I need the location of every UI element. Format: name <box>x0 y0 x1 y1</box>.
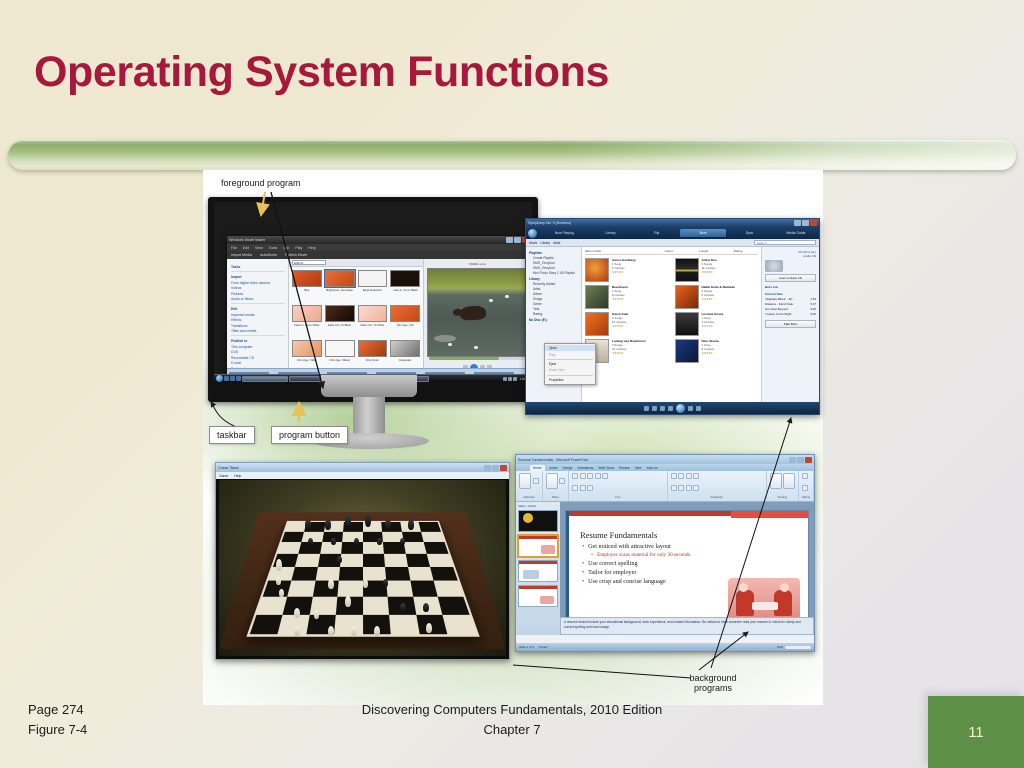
track-title: Distance - Karsh Kale <box>765 302 793 306</box>
numbering-icon[interactable] <box>678 473 684 479</box>
album-item[interactable]: Karsh Kale2 Songs10 minutes★★★★★ <box>585 312 669 336</box>
tab-rip[interactable]: Rip <box>634 231 680 235</box>
task-imported-media[interactable]: Imported media <box>231 313 285 317</box>
minimize-icon[interactable] <box>484 465 491 471</box>
task-group-edit: Edit <box>231 307 285 311</box>
movie-maker-menubar[interactable]: File Edit View Tools Clip Play Help <box>227 244 531 251</box>
underline-icon[interactable] <box>602 473 608 479</box>
status-bar[interactable]: Slide 2 of 4 "Urban" 59% <box>516 643 814 651</box>
effect-cell[interactable]: Blur <box>292 270 322 303</box>
tab-add-ins[interactable]: Add-Ins <box>646 466 657 470</box>
collection-combo[interactable]: Effects <box>292 260 326 265</box>
task-import-camera[interactable]: From digital video camera <box>231 281 285 285</box>
effect-thumbnail <box>292 305 322 322</box>
column-album-artist[interactable]: Album Artist <box>585 249 665 253</box>
footer-book: Discovering Computers Fundamentals, 2010… <box>0 700 1024 720</box>
maximize-icon[interactable] <box>514 237 521 243</box>
task-transitions[interactable]: Transitions <box>231 324 285 328</box>
tree-group-playlists[interactable]: Playlists <box>529 251 579 255</box>
seek-bar[interactable] <box>429 357 526 360</box>
tab-outline[interactable]: Outline <box>528 504 537 508</box>
chess-piece-black[interactable] <box>383 579 388 587</box>
group-label: Slides <box>546 496 566 499</box>
menu-play[interactable]: Play <box>295 246 302 250</box>
new-slide-icon[interactable] <box>546 473 558 489</box>
tree-item-rating[interactable]: Rating <box>533 312 579 316</box>
close-icon[interactable] <box>500 465 507 471</box>
chess-piece-white[interactable] <box>426 623 432 633</box>
album-item[interactable]: Habib Koite & Bamada2 Songs9 minutes★★★★… <box>675 285 759 309</box>
head-figure <box>739 583 748 592</box>
previous-icon[interactable] <box>668 406 673 411</box>
close-icon[interactable] <box>810 220 817 226</box>
tree-item-templist-2[interactable]: DMS_TempList <box>533 266 579 270</box>
font-size-icon[interactable] <box>580 473 586 479</box>
arrange-icon[interactable] <box>783 473 795 489</box>
minimize-icon[interactable] <box>506 237 513 243</box>
paste-icon[interactable] <box>519 473 531 489</box>
chess-piece-black[interactable] <box>400 603 406 612</box>
current-slide[interactable]: Resume Fundamentals Get noticed with att… <box>565 510 809 627</box>
divider-line <box>231 335 285 336</box>
effect-label: Fade In, From Black <box>393 288 418 292</box>
task-publish-computer[interactable]: This computer <box>231 345 285 349</box>
powerpoint-titlebar: Resume Fundamentals - Microsoft PowerPoi… <box>516 455 814 464</box>
album-grid[interactable]: Aaron Goldberg1 Song6 minutes★★★★★ Aisha… <box>585 258 758 363</box>
tab-burn[interactable]: Burn <box>680 229 726 237</box>
window-media-player[interactable]: Symphony No. 9 (Scherzo) Now Playing Lib… <box>525 218 820 415</box>
group-label: Editing <box>802 496 810 499</box>
start-button-icon[interactable] <box>216 375 223 382</box>
album-item[interactable]: Aisha Duo2 Songs11 minutes★★★★★ <box>675 258 759 282</box>
tasks-pane[interactable]: Tasks Import From digital video camera V… <box>227 259 289 376</box>
effect-label: Fade Out, To Black <box>328 323 352 327</box>
effect-cell[interactable]: Film Age, Old <box>390 305 420 338</box>
table-figure <box>752 602 778 610</box>
tab-home[interactable]: Home <box>530 465 545 471</box>
ribbon-group-font[interactable]: Font <box>569 471 668 501</box>
align-right-icon[interactable] <box>686 485 692 491</box>
font-name-icon[interactable] <box>572 473 578 479</box>
rating-stars[interactable]: ★★★★★ <box>702 297 735 301</box>
transport-controls[interactable] <box>526 402 819 414</box>
maximize-icon[interactable] <box>797 457 804 463</box>
chess-piece-white[interactable] <box>374 626 380 636</box>
status-theme: "Urban" <box>538 645 548 649</box>
shapes-icon[interactable] <box>770 473 782 489</box>
album-art <box>675 339 699 363</box>
album-item[interactable]: Luciana Souza1 Song3 minutes★★★★★ <box>675 312 759 336</box>
tab-insert[interactable]: Insert <box>550 466 558 470</box>
chess-piece-white[interactable] <box>294 626 300 636</box>
effect-label: Film Grain <box>366 358 379 362</box>
burn-list-label[interactable]: Burn List <box>765 285 816 289</box>
menu-game[interactable]: Game <box>219 474 228 478</box>
slide-thumbnail-1[interactable] <box>518 510 558 532</box>
task-publish-email[interactable]: E-mail <box>231 361 285 365</box>
effect-label: Fade Out, To White <box>360 323 384 327</box>
notes-text: A resume should include your educational… <box>564 620 810 629</box>
movie-maker-title: Windows Movie Maker <box>229 238 265 242</box>
slide-bullet-list[interactable]: Get noticed with attractive layout Emplo… <box>582 543 690 587</box>
minimize-icon[interactable] <box>789 457 796 463</box>
window-powerpoint[interactable]: Resume Fundamentals - Microsoft PowerPoi… <box>515 454 815 652</box>
quicklaunch-icon[interactable] <box>236 376 241 381</box>
chess-pawn-black[interactable] <box>337 556 342 563</box>
group-label: Drawing <box>770 496 796 499</box>
rating-stars[interactable]: ★★★★★ <box>702 270 717 274</box>
tab-slides[interactable]: Slides <box>518 504 526 508</box>
chess-pawn-white[interactable] <box>314 610 319 619</box>
search-input[interactable]: Search <box>754 240 816 246</box>
divider-bar <box>8 140 1016 170</box>
bullet-2-sub[interactable]: Employer scans material for only 30 seco… <box>591 552 690 558</box>
chess-pawn-black[interactable] <box>354 538 359 545</box>
effect-cell[interactable]: Fade In, From White <box>292 305 322 338</box>
effect-cell[interactable]: Fade In, From Black <box>390 270 420 303</box>
slide-thumbnail-3[interactable] <box>518 560 558 582</box>
movie-maker-toolbar[interactable]: Import Media AutoMovie Publish Movie <box>227 251 531 259</box>
tasks-header: Tasks <box>231 265 285 269</box>
breadcrumb[interactable]: Music Library Artist Search <box>526 239 819 247</box>
context-menu-play[interactable]: Play <box>545 351 595 357</box>
page-number-badge: 11 <box>928 696 1024 768</box>
bullet-4[interactable]: Tailor for employer <box>582 569 690 576</box>
burn-track[interactable]: One Step Beyond6:06 <box>765 307 816 311</box>
page-title: Operating System Functions <box>34 48 609 97</box>
tray-icon[interactable] <box>513 377 517 381</box>
track-time: 6:06 <box>810 307 816 311</box>
effect-cell[interactable]: Brightness, Decrease <box>325 270 355 303</box>
shuffle-icon[interactable] <box>644 406 649 411</box>
effect-label: Brightness, Decrease <box>326 288 353 292</box>
maximize-icon[interactable] <box>802 220 809 226</box>
rating-stars[interactable]: ★★★★★ <box>612 324 628 328</box>
burn-track[interactable]: Distance - Karsh Kale5:27 <box>765 302 816 306</box>
window-controls[interactable] <box>794 220 817 226</box>
chess-menubar[interactable]: Game Help <box>216 472 509 479</box>
effects-toolbar[interactable]: Effects <box>289 259 423 267</box>
effect-thumbnail <box>390 270 420 287</box>
italic-icon[interactable] <box>595 473 601 479</box>
font-color-icon[interactable] <box>572 485 578 491</box>
window-controls[interactable] <box>484 465 507 471</box>
breadcrumb-library[interactable]: Library <box>540 241 550 245</box>
divider <box>8 140 1016 170</box>
group-label: Font <box>572 496 664 499</box>
repeat-icon[interactable] <box>652 406 657 411</box>
track-title: "Highway Blues" - Mi... <box>765 297 794 301</box>
ribbon-group-editing[interactable]: Editing <box>799 471 814 501</box>
ribbon-group-drawing[interactable]: Drawing <box>767 471 800 501</box>
menu-help[interactable]: Help <box>308 246 315 250</box>
automovie-button[interactable]: AutoMovie <box>260 253 277 257</box>
menu-help[interactable]: Help <box>234 474 241 478</box>
effect-label: Film Age, Oldest <box>329 358 350 362</box>
album-art <box>675 258 699 282</box>
effect-label: Grayscale <box>399 358 412 362</box>
gull-figure <box>474 346 478 349</box>
chess-piece-black[interactable] <box>423 603 429 612</box>
align-center-icon[interactable] <box>678 485 684 491</box>
cd-drive-icon <box>765 260 783 272</box>
tree-group-no-disc[interactable]: No Disc (E:) <box>529 318 579 322</box>
album-item[interactable]: Ludwig van Beethoven3 Songs21 minutes★★★… <box>585 339 669 363</box>
effect-cell[interactable]: Edge Detection <box>358 270 388 303</box>
task-import-pictures[interactable]: Pictures <box>231 292 285 296</box>
strike-icon[interactable] <box>580 485 586 491</box>
menu-edit[interactable]: Edit <box>243 246 249 250</box>
effect-thumbnail <box>390 305 420 322</box>
media-player-body: Playlists Create Playlist DMS_TempList D… <box>526 247 819 402</box>
menu-tools[interactable]: Tools <box>269 246 277 250</box>
album-list[interactable]: Album Artist Count Length Rating Aaron G… <box>582 247 761 402</box>
album-item[interactable]: Nino Stoma1 Song5 minutes★★★★★ <box>675 339 759 363</box>
bullets-icon[interactable] <box>671 473 677 479</box>
play-icon[interactable] <box>676 404 685 413</box>
preview-title: Wildlife.wmv <box>427 262 528 266</box>
tab-review[interactable]: Review <box>619 466 629 470</box>
slide-thumbnails-pane[interactable]: Slides Outline <box>516 502 560 635</box>
movie-maker-titlebar: Windows Movie Maker <box>227 236 531 244</box>
tab-library[interactable]: Library <box>587 231 633 235</box>
cut-icon[interactable] <box>533 478 539 484</box>
tray-icon[interactable] <box>508 377 512 381</box>
justify-icon[interactable] <box>693 485 699 491</box>
align-left-icon[interactable] <box>671 485 677 491</box>
tree-item-photo-story[interactable]: Mixi Photo Story 2 LB Playlist <box>533 271 579 275</box>
movie-maker-body: Tasks Import From digital video camera V… <box>227 259 531 376</box>
menu-clip[interactable]: Clip <box>283 246 289 250</box>
task-group-publish: Publish to <box>231 339 285 343</box>
chess-board[interactable] <box>246 520 479 636</box>
rating-stars[interactable]: ★★★★★ <box>612 270 636 274</box>
effect-thumbnail <box>358 305 388 322</box>
tray-icon[interactable] <box>503 377 507 381</box>
chess-pawn-black[interactable] <box>331 538 336 545</box>
window-controls[interactable] <box>789 457 812 463</box>
chess-pawn-black[interactable] <box>400 538 405 545</box>
effects-grid[interactable]: Blur Brightness, Decrease Edge Detection… <box>289 267 423 376</box>
effect-label: Edge Detection <box>363 288 382 292</box>
chess-piece-white[interactable] <box>351 626 357 636</box>
menu-file[interactable]: File <box>231 246 237 250</box>
effect-thumbnail <box>325 270 355 287</box>
slide-clipart[interactable] <box>728 578 800 620</box>
album-item[interactable]: Aaron Goldberg1 Song6 minutes★★★★★ <box>585 258 669 282</box>
chess-pawn-black[interactable] <box>377 538 382 545</box>
label-background-programs: background programs <box>683 673 743 693</box>
tab-media-guide[interactable]: Media Guide <box>773 231 819 235</box>
minimize-icon[interactable] <box>794 220 801 226</box>
rock-figure <box>434 335 456 342</box>
label-taskbar: taskbar <box>209 426 255 444</box>
start-burn-button[interactable]: Start Burn <box>765 320 816 328</box>
task-titles-credits[interactable]: Titles and credits <box>231 329 285 333</box>
ribbon-group-clipboard[interactable]: Clipboard <box>516 471 543 501</box>
tree-item-songs[interactable]: Songs <box>533 297 579 301</box>
quicklaunch-icon[interactable] <box>224 376 229 381</box>
layout-icon[interactable] <box>559 478 565 484</box>
panel-tabs[interactable]: Slides Outline <box>518 504 558 508</box>
column-headers[interactable]: Album Artist Count Length Rating <box>585 249 758 255</box>
shadow-icon[interactable] <box>587 485 593 491</box>
task-publish-cd[interactable]: Recordable CD <box>231 356 285 360</box>
zoom-slider[interactable] <box>785 646 811 649</box>
program-button-movie-maker[interactable] <box>242 376 288 382</box>
album-art <box>675 312 699 336</box>
task-publish-dvd[interactable]: DVD <box>231 350 285 354</box>
replace-icon[interactable] <box>802 485 808 491</box>
effect-cell[interactable]: Fade Out, To Black <box>325 305 355 338</box>
quicklaunch-icon[interactable] <box>230 376 235 381</box>
album-item[interactable]: Beethoven1 Song8 minutes★★★★★ <box>585 285 669 309</box>
breadcrumb-music[interactable]: Music <box>529 241 537 245</box>
slide-accent-bar-2 <box>731 511 808 518</box>
find-icon[interactable] <box>802 473 808 479</box>
chess-piece-white[interactable] <box>294 608 300 618</box>
slide-thumbnail-4[interactable] <box>518 585 558 607</box>
notes-pane[interactable]: A resume should include your educational… <box>560 617 814 635</box>
chess-scene <box>219 480 506 656</box>
insert-blank-cd-button[interactable]: Insert a blank CD <box>765 274 816 282</box>
mute-icon[interactable] <box>696 406 701 411</box>
maximize-icon[interactable] <box>492 465 499 471</box>
effect-label: Fade In, From White <box>294 323 320 327</box>
chess-piece-white[interactable] <box>328 626 334 636</box>
import-media-button[interactable]: Import Media <box>231 253 252 257</box>
effect-thumbnail <box>358 340 388 357</box>
effects-pane: Effects Blur Brightness, Decrease Edge D… <box>289 259 423 376</box>
head-figure <box>780 583 789 592</box>
preview-pane[interactable]: Wildlife.wmv <box>423 259 531 376</box>
current-disc-label: Current Disc <box>765 292 816 296</box>
outdent-icon[interactable] <box>693 473 699 479</box>
task-import-audio[interactable]: Audio or Music <box>231 297 285 301</box>
media-player-titlebar: Symphony No. 9 (Scherzo) <box>526 219 819 227</box>
tree-item-genre[interactable]: Genre <box>533 302 579 306</box>
track-time: 1:33 <box>810 297 816 301</box>
album-art <box>585 258 609 282</box>
media-player-tabs[interactable]: Now Playing Library Rip Burn Sync Media … <box>526 227 819 239</box>
track-time: 3:02 <box>810 312 816 316</box>
close-icon[interactable] <box>805 457 812 463</box>
powerpoint-body: Slides Outline Resume Fundamentals Get n… <box>516 502 814 635</box>
column-count[interactable]: Count <box>665 249 700 253</box>
tab-sync[interactable]: Sync <box>726 231 772 235</box>
next-icon[interactable] <box>688 406 693 411</box>
label-background-line1: background <box>689 673 736 683</box>
ribbon-group-slides[interactable]: Slides <box>543 471 570 501</box>
rating-stars[interactable]: ★★★★★ <box>702 351 719 355</box>
gull-figure <box>489 299 493 302</box>
ribbon[interactable]: Clipboard Slides Font Paragraph Drawing <box>516 471 814 502</box>
tree-item-create-playlist[interactable]: Create Playlist <box>533 256 579 260</box>
effect-cell[interactable]: Fade Out, To White <box>358 305 388 338</box>
footer-center: Discovering Computers Fundamentals, 2010… <box>0 700 1024 740</box>
stop-icon[interactable] <box>660 406 665 411</box>
bullet-5[interactable]: Use crisp and concise language <box>582 578 690 585</box>
tree-group-library[interactable]: Library <box>529 277 579 281</box>
track-title: I Guess You're Right <box>765 312 791 316</box>
chess-piece-white[interactable] <box>328 579 334 589</box>
back-icon[interactable] <box>528 229 537 238</box>
tree-item-recently-added[interactable]: Recently Added <box>533 282 579 286</box>
task-effects[interactable]: Effects <box>231 318 285 322</box>
burn-track[interactable]: "Highway Blues" - Mi...1:33 <box>765 297 816 301</box>
slide-heading[interactable]: Resume Fundamentals <box>580 530 657 540</box>
task-import-videos[interactable]: Videos <box>231 286 285 290</box>
chess-pawn-white[interactable] <box>276 577 281 585</box>
bullet-3[interactable]: Use correct spelling <box>582 560 690 567</box>
tree-item-templist-1[interactable]: DMS_TempList <box>533 261 579 265</box>
effect-label: Film Age, Older <box>297 358 316 362</box>
bullet-1[interactable]: Get noticed with attractive layout <box>582 543 690 550</box>
tree-item-year[interactable]: Year <box>533 307 579 311</box>
context-menu-erase-disc[interactable]: Erase Disc <box>545 367 595 373</box>
divider-line <box>231 271 285 272</box>
rating-stars[interactable]: ★★★★★ <box>612 297 628 301</box>
chess-piece-black[interactable] <box>305 519 311 530</box>
zoom-level[interactable]: 59% <box>777 645 783 649</box>
context-menu[interactable]: Open Play Eject Erase Disc Properties <box>544 343 596 385</box>
rating-stars[interactable]: ★★★★★ <box>612 351 646 355</box>
window-movie-maker[interactable]: Windows Movie Maker File Edit View Tools… <box>226 235 532 382</box>
chess-pawn-white[interactable] <box>363 579 368 588</box>
menu-view[interactable]: View <box>255 246 263 250</box>
slide-stage[interactable]: Resume Fundamentals Get noticed with att… <box>560 502 814 635</box>
zoom-controls[interactable]: 59% <box>777 645 811 649</box>
bold-icon[interactable] <box>587 473 593 479</box>
library-tree[interactable]: Playlists Create Playlist DMS_TempList D… <box>526 247 582 402</box>
effect-thumbnail <box>292 340 322 357</box>
breadcrumb-artist[interactable]: Artist <box>553 241 560 245</box>
video-preview[interactable] <box>427 268 528 357</box>
column-length[interactable]: Length <box>699 249 734 253</box>
chess-titlebar: Chess Titans <box>216 463 509 472</box>
ribbon-group-paragraph[interactable]: Paragraph <box>668 471 767 501</box>
slide-thumbnail-2[interactable] <box>518 535 558 557</box>
publish-movie-button[interactable]: Publish Movie <box>285 253 307 257</box>
tab-design[interactable]: Design <box>563 466 573 470</box>
album-art <box>675 285 699 309</box>
track-title: One Step Beyond <box>765 307 788 311</box>
ribbon-tabs[interactable]: Home Insert Design Animations Slide Show… <box>516 464 814 471</box>
chess-piece-black[interactable] <box>325 519 331 530</box>
chess-piece-white[interactable] <box>345 596 351 607</box>
window-chess-titans[interactable]: Chess Titans Game Help <box>215 462 510 660</box>
tab-now-playing[interactable]: Now Playing <box>541 231 587 235</box>
tab-view[interactable]: View <box>635 466 642 470</box>
context-menu-properties[interactable]: Properties <box>545 377 595 383</box>
task-group-import: Import <box>231 275 285 279</box>
rating-stars[interactable]: ★★★★★ <box>702 324 724 328</box>
column-rating[interactable]: Rating <box>734 249 758 253</box>
tree-item-artist[interactable]: Artist <box>533 287 579 291</box>
tab-slide-show[interactable]: Slide Show <box>598 466 614 470</box>
label-foreground-program: foreground program <box>221 178 301 188</box>
chess-pawn-black[interactable] <box>308 538 313 545</box>
tab-animations[interactable]: Animations <box>577 466 593 470</box>
tree-item-album[interactable]: Album <box>533 292 579 296</box>
indent-icon[interactable] <box>686 473 692 479</box>
media-player-title: Symphony No. 9 (Scherzo) <box>528 221 571 225</box>
burn-track[interactable]: I Guess You're Right3:02 <box>765 312 816 316</box>
chess-piece-black[interactable] <box>345 515 351 528</box>
burn-panel[interactable]: CD Drive (E:) Audio CD Insert a blank CD… <box>761 247 819 402</box>
gull-figure <box>505 295 509 298</box>
menu-separator <box>547 375 593 376</box>
